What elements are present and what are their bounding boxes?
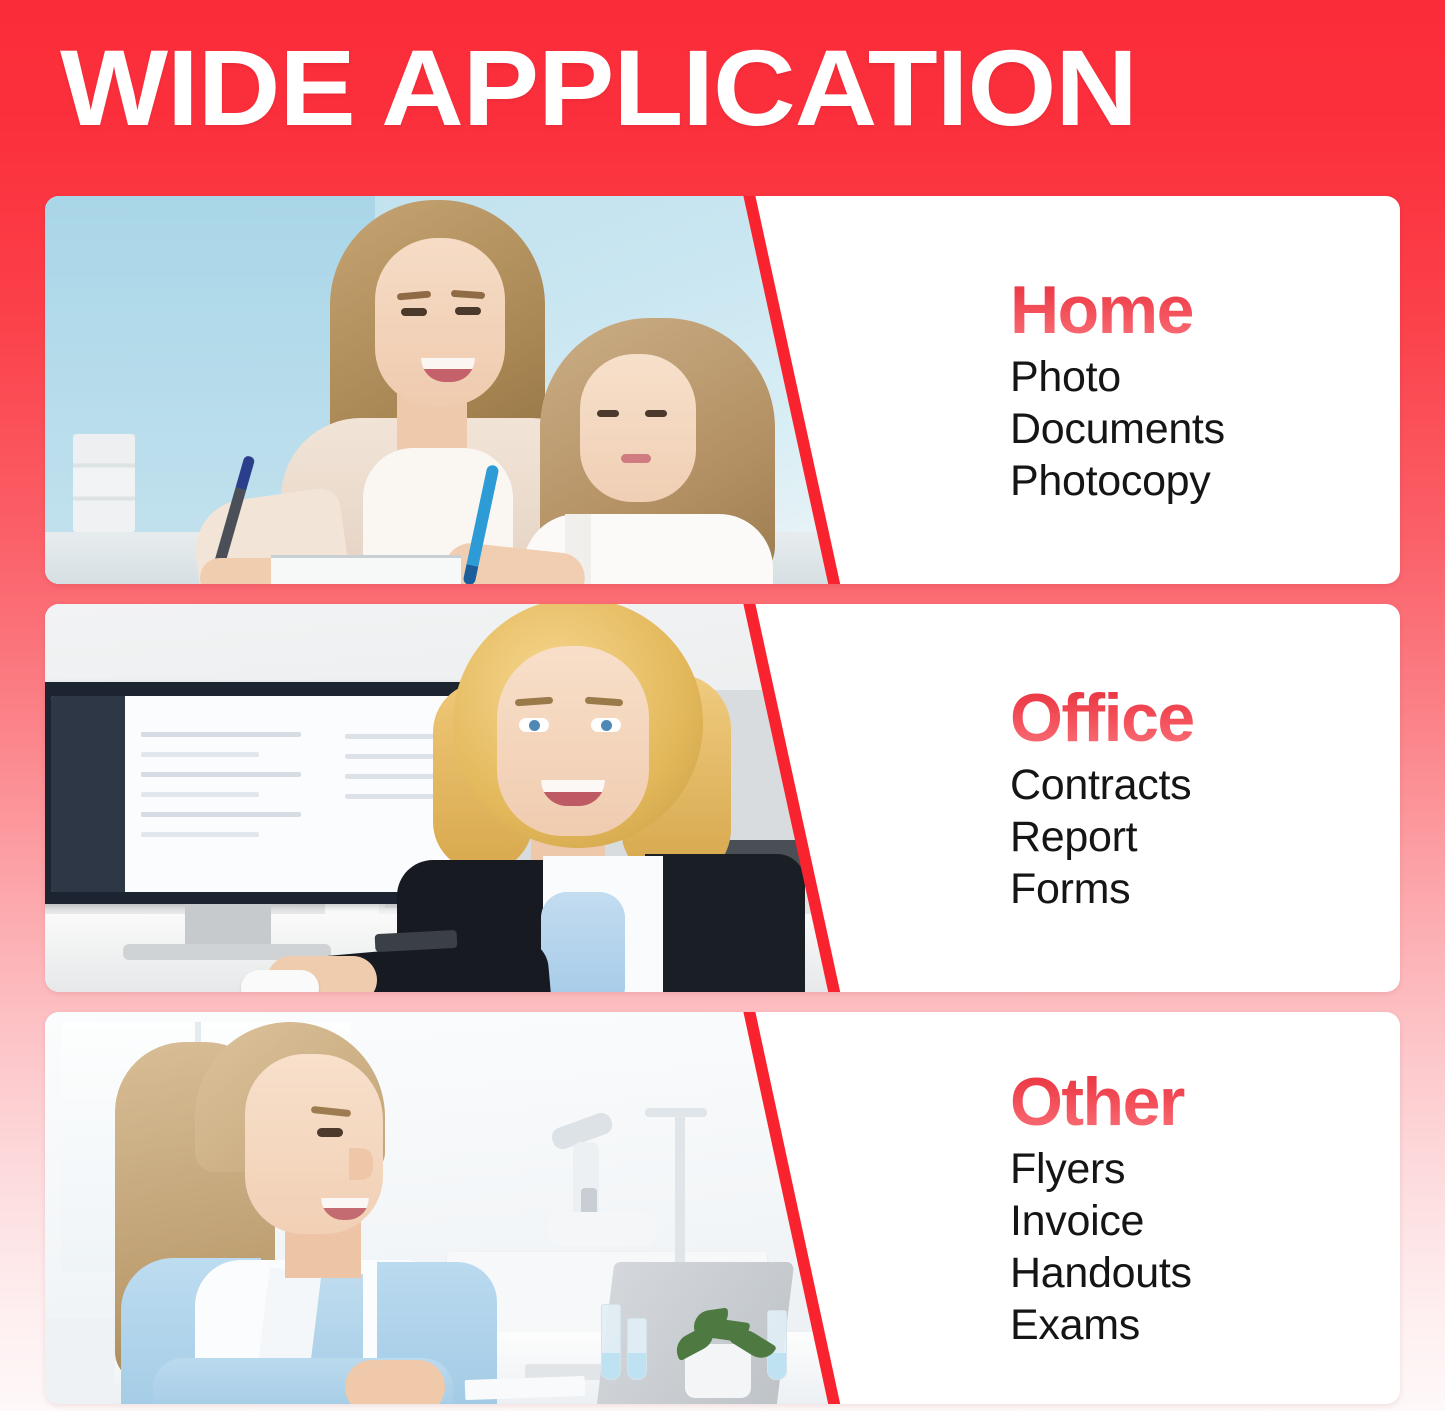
list-item: Report [1010, 811, 1400, 863]
card-list-office: Contracts Report Forms [1010, 759, 1400, 915]
list-item: Documents [1010, 403, 1400, 455]
list-item: Forms [1010, 863, 1400, 915]
list-item: Flyers [1010, 1143, 1400, 1195]
list-item: Invoice [1010, 1195, 1400, 1247]
application-card-office: Office Contracts Report Forms [45, 604, 1400, 992]
card-photo-home [45, 196, 835, 584]
card-title-other: Other [1010, 1065, 1400, 1139]
page-title: WIDE APPLICATION [60, 34, 1445, 142]
card-title-home: Home [1010, 273, 1400, 347]
card-info-home: Home Photo Documents Photocopy [1010, 196, 1400, 584]
list-item: Photocopy [1010, 455, 1400, 507]
card-info-office: Office Contracts Report Forms [1010, 604, 1400, 992]
application-card-home: Home Photo Documents Photocopy [45, 196, 1400, 584]
application-card-other: Other Flyers Invoice Handouts Exams [45, 1012, 1400, 1404]
list-item: Photo [1010, 351, 1400, 403]
card-photo-other [45, 1012, 835, 1404]
card-title-office: Office [1010, 681, 1400, 755]
card-list-other: Flyers Invoice Handouts Exams [1010, 1143, 1400, 1351]
card-photo-office [45, 604, 835, 992]
list-item: Contracts [1010, 759, 1400, 811]
card-info-other: Other Flyers Invoice Handouts Exams [1010, 1012, 1400, 1404]
infographic-page: WIDE APPLICATION [0, 0, 1445, 1411]
list-item: Exams [1010, 1299, 1400, 1351]
list-item: Handouts [1010, 1247, 1400, 1299]
card-list-home: Photo Documents Photocopy [1010, 351, 1400, 507]
